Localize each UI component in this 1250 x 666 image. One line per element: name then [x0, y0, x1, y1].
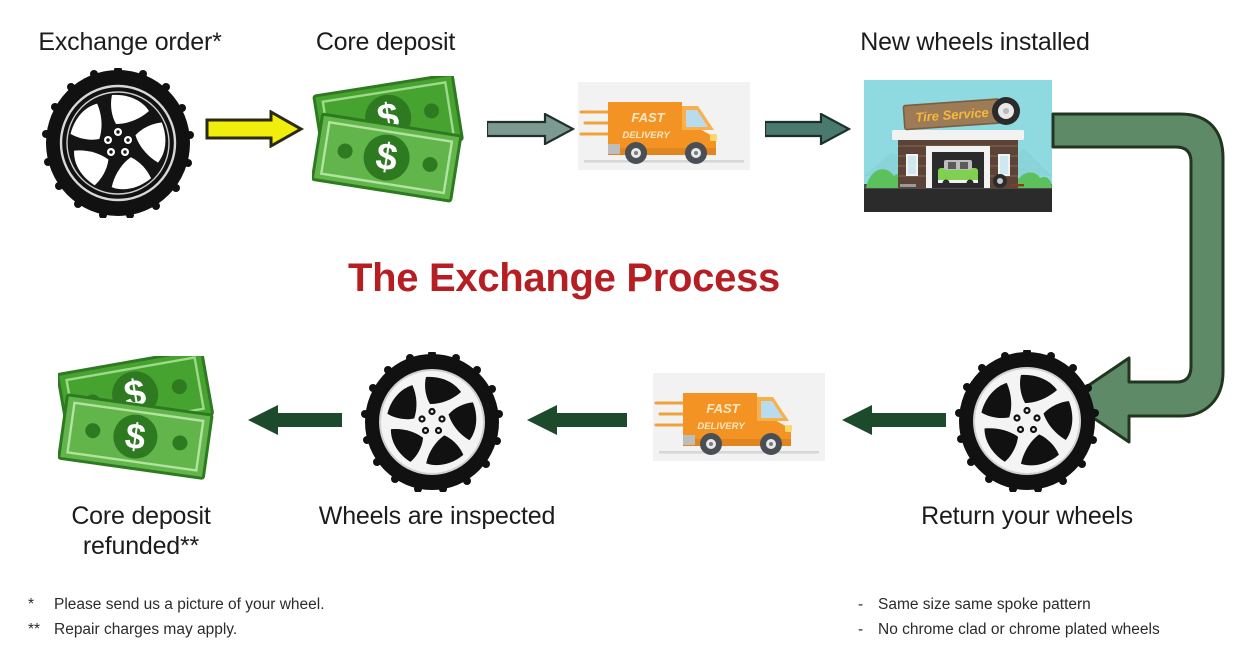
page-title: The Exchange Process [348, 256, 780, 301]
fast-delivery-truck-image-top: FAST DELIVERY [578, 82, 750, 170]
alloy-wheel-silver-inspected-icon [358, 352, 506, 492]
footnote-right-item: - Same size same spoke pattern [858, 592, 1250, 617]
dollar-bills-refund-icon: $ $ [58, 356, 233, 484]
svg-text:FAST: FAST [631, 110, 665, 125]
svg-text:DELIVERY: DELIVERY [697, 421, 746, 432]
footnotes-right: - Same size same spoke pattern - No chro… [858, 592, 1250, 642]
alloy-wheel-silver-return-icon [952, 350, 1102, 492]
footnote-text: Same size same spoke pattern [878, 592, 1091, 617]
step-label-wheels-inspected: Wheels are inspected [292, 502, 582, 532]
step-label-core-deposit-refunded: Core deposit refunded** [26, 502, 256, 561]
arrow-deposit-to-shipping [487, 113, 575, 145]
arrow-shipping-to-install [765, 113, 851, 145]
step-label-return-your-wheels: Return your wheels [892, 502, 1162, 532]
dollar-bills-icon: $ $ [312, 76, 478, 208]
arrow-order-to-deposit [205, 110, 305, 148]
arrow-inspect-to-refund [246, 404, 342, 436]
footnote-text: No chrome clad or chrome plated wheels [878, 617, 1160, 642]
step-label-core-deposit: Core deposit [278, 28, 493, 58]
tire-service-shop-image: Tire Service [864, 80, 1052, 212]
arrow-shipping-to-inspect [525, 404, 627, 436]
step-label-exchange-order: Exchange order* [0, 28, 260, 58]
svg-text:DELIVERY: DELIVERY [622, 130, 671, 141]
footnote-right-item: - No chrome clad or chrome plated wheels [858, 617, 1250, 642]
footnote-left-item: * Please send us a picture of your wheel… [28, 592, 448, 617]
footnote-text: Repair charges may apply. [54, 617, 237, 642]
footnotes-left: * Please send us a picture of your wheel… [28, 592, 448, 642]
exchange-process-diagram: Exchange order* Core deposit New wheels … [0, 0, 1250, 666]
footnote-text: Please send us a picture of your wheel. [54, 592, 325, 617]
footnote-marker: - [858, 592, 878, 617]
svg-text:FAST: FAST [706, 401, 740, 416]
fast-delivery-truck-image-bottom: FAST DELIVERY [653, 373, 825, 461]
footnote-marker: - [858, 617, 878, 642]
footnote-marker: ** [28, 617, 54, 642]
arrow-return-to-shipping [840, 404, 946, 436]
footnote-left-item: ** Repair charges may apply. [28, 617, 448, 642]
footnote-marker: * [28, 592, 54, 617]
step-label-new-wheels-installed: New wheels installed [790, 28, 1160, 58]
alloy-wheel-dark-icon [38, 68, 198, 218]
